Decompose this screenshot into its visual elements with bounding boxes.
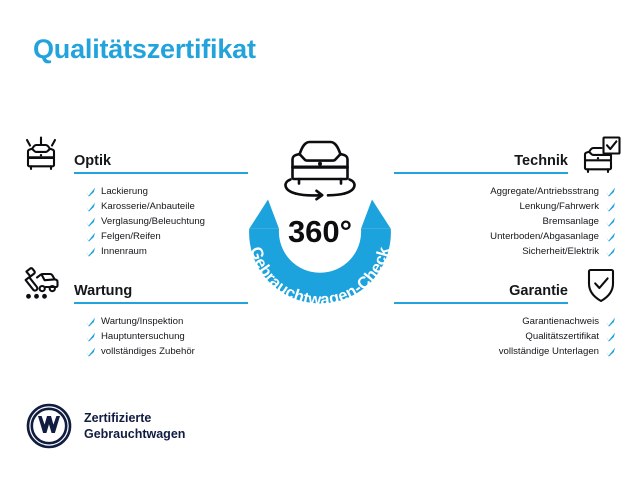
section-header-garantie: Garantie [394,261,624,305]
check-icon [84,231,96,242]
section-divider-optik [74,172,248,174]
check-icon [604,186,616,197]
list-item: vollständige Unterlagen [394,344,624,359]
section-header-technik: Technik [394,131,624,175]
section-header-text-garantie: Garantie [394,284,578,305]
list-item-label: Lenkung/Fahrwerk [520,202,599,212]
section-divider-wartung [74,302,248,304]
footer-text: Zertifizierte Gebrauchtwagen [72,410,185,443]
car-wrench-icon [18,263,64,305]
page-title: Qualitätszertifikat [33,34,256,65]
list-item: Hauptuntersuchung [18,329,248,344]
check-icon [84,316,96,327]
list-item-label: Lackierung [101,187,148,197]
car-rotation-360-icon [285,142,354,199]
check-icon [604,331,616,342]
car-checkbox-icon [578,133,624,175]
list-item: Sicherheit/Elektrik [394,244,624,259]
checklist-technik: Aggregate/Antriebsstrang Lenkung/Fahrwer… [394,175,624,259]
section-header-optik: Optik [18,131,248,175]
section-header-text-wartung: Wartung [64,284,248,305]
list-item-label: Garantienachweis [522,317,599,327]
section-title-wartung: Wartung [64,284,248,302]
list-item-label: Felgen/Reifen [101,232,161,242]
checklist-optik: Lackierung Karosserie/Anbauteile Verglas… [18,175,248,259]
list-item-label: Innenraum [101,247,147,257]
list-item: Bremsanlage [394,214,624,229]
footer-brand: Zertifizierte Gebrauchtwagen [26,403,185,449]
footer-line-1: Zertifizierte [84,410,185,427]
check-icon [604,346,616,357]
list-item-label: vollständiges Zubehör [101,347,195,357]
section-title-optik: Optik [64,154,248,172]
list-item: Aggregate/Antriebsstrang [394,184,624,199]
list-item-label: Bremsanlage [542,217,599,227]
check-icon [84,216,96,227]
list-item-label: Wartung/Inspektion [101,317,183,327]
list-item-label: Qualitätszertifikat [525,332,599,342]
section-header-text-technik: Technik [394,154,578,175]
list-item-label: Verglasung/Beleuchtung [101,217,205,227]
check-icon [604,231,616,242]
checklist-wartung: Wartung/Inspektion Hauptuntersuchung vol… [18,305,248,359]
section-technik: Technik Aggregate/Antriebsstrang Lenkung… [394,131,624,259]
badge-360-gebrauchtwagen-check: Gebrauchtwagen-Check 360° [232,118,408,314]
footer-line-2: Gebrauchtwagen [84,426,185,443]
badge-center-label: 360° [288,214,352,249]
section-optik: Optik Lackierung Karosserie/Anbauteile [18,131,248,259]
vw-logo-icon [26,403,72,449]
check-icon [604,246,616,257]
certificate-page: Qualitätszertifikat Optik [0,0,640,480]
check-icon [604,201,616,212]
sparkling-car-icon [18,133,64,175]
section-title-technik: Technik [394,154,578,172]
list-item: Garantienachweis [394,314,624,329]
list-item: vollständiges Zubehör [18,344,248,359]
section-header-wartung: Wartung [18,261,248,305]
list-item: Wartung/Inspektion [18,314,248,329]
checklist-garantie: Garantienachweis Qualitätszertifikat vol… [394,305,624,359]
check-icon [604,216,616,227]
list-item: Unterboden/Abgasanlage [394,229,624,244]
check-icon [604,316,616,327]
check-icon [84,201,96,212]
list-item-label: Karosserie/Anbauteile [101,202,195,212]
list-item-label: vollständige Unterlagen [499,347,599,357]
check-icon [84,246,96,257]
list-item-label: Unterboden/Abgasanlage [490,232,599,242]
list-item: Karosserie/Anbauteile [18,199,248,214]
section-wartung: Wartung Wartung/Inspektion Hauptuntersuc… [18,261,248,359]
list-item-label: Sicherheit/Elektrik [522,247,599,257]
check-icon [84,186,96,197]
section-divider-technik [394,172,568,174]
section-divider-garantie [394,302,568,304]
check-icon [84,346,96,357]
list-item: Verglasung/Beleuchtung [18,214,248,229]
list-item: Felgen/Reifen [18,229,248,244]
list-item: Qualitätszertifikat [394,329,624,344]
list-item: Lenkung/Fahrwerk [394,199,624,214]
list-item: Lackierung [18,184,248,199]
list-item-label: Aggregate/Antriebsstrang [490,187,599,197]
check-icon [84,331,96,342]
section-garantie: Garantie Garantienachweis Qualitätszerti… [394,261,624,359]
list-item: Innenraum [18,244,248,259]
list-item-label: Hauptuntersuchung [101,332,185,342]
shield-check-icon [578,263,624,305]
section-header-text-optik: Optik [64,154,248,175]
section-title-garantie: Garantie [394,284,578,302]
